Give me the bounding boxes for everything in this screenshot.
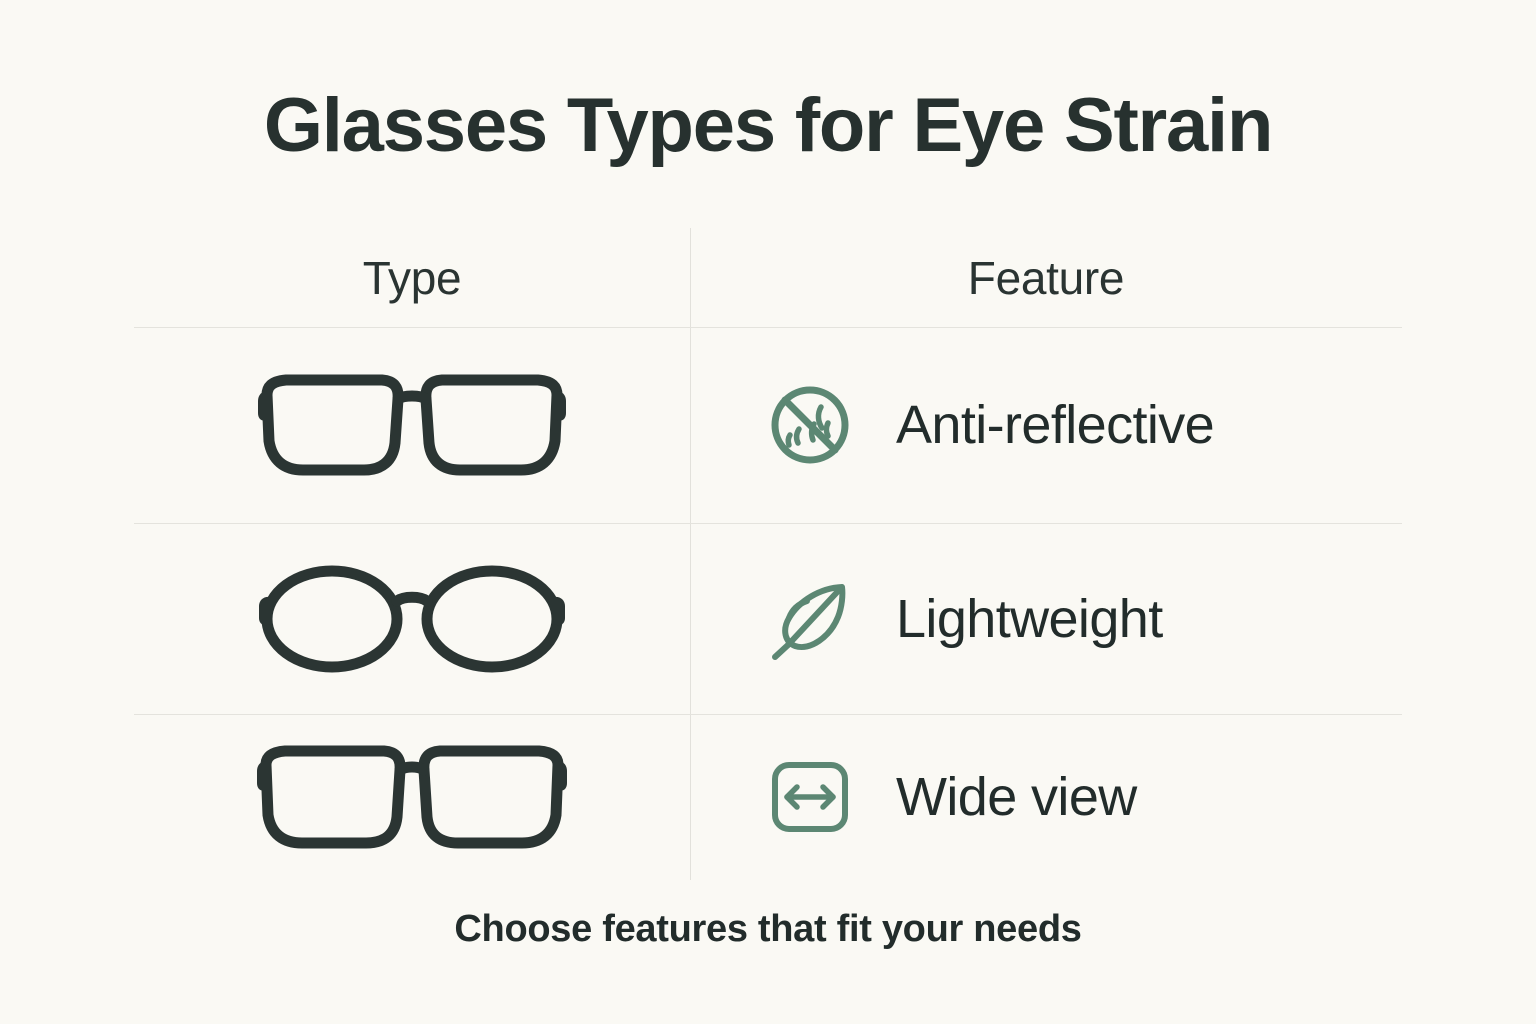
footer-caption: Choose features that fit your needs: [0, 908, 1536, 951]
glasses-cell: [134, 369, 690, 481]
leaf-icon: [764, 573, 856, 665]
column-header-type: Type: [134, 228, 690, 327]
infographic-canvas: Glasses Types for Eye Strain Type Featur…: [0, 0, 1536, 1024]
table-row: Lightweight: [134, 523, 1402, 714]
feature-label: Anti-reflective: [896, 394, 1214, 456]
feature-cell: Lightweight: [690, 573, 1402, 665]
glasses-cell: [134, 741, 690, 853]
feature-cell: Anti-reflective: [690, 379, 1402, 471]
rectangular-glasses-icon: [256, 369, 568, 481]
glasses-cell: [134, 563, 690, 675]
table-row: Wide view: [134, 714, 1402, 880]
column-header-feature: Feature: [690, 228, 1402, 327]
feature-label: Lightweight: [896, 588, 1163, 650]
comparison-table: Type Feature: [134, 228, 1402, 880]
round-glasses-icon: [256, 563, 568, 675]
feature-cell: Wide view: [690, 751, 1402, 843]
no-glare-icon: [764, 379, 856, 471]
table-header-row: Type Feature: [134, 228, 1402, 327]
square-glasses-icon: [256, 741, 568, 853]
page-title: Glasses Types for Eye Strain: [0, 88, 1536, 164]
table-row: Anti-reflective: [134, 327, 1402, 523]
wide-arrows-icon: [764, 751, 856, 843]
feature-label: Wide view: [896, 766, 1137, 828]
